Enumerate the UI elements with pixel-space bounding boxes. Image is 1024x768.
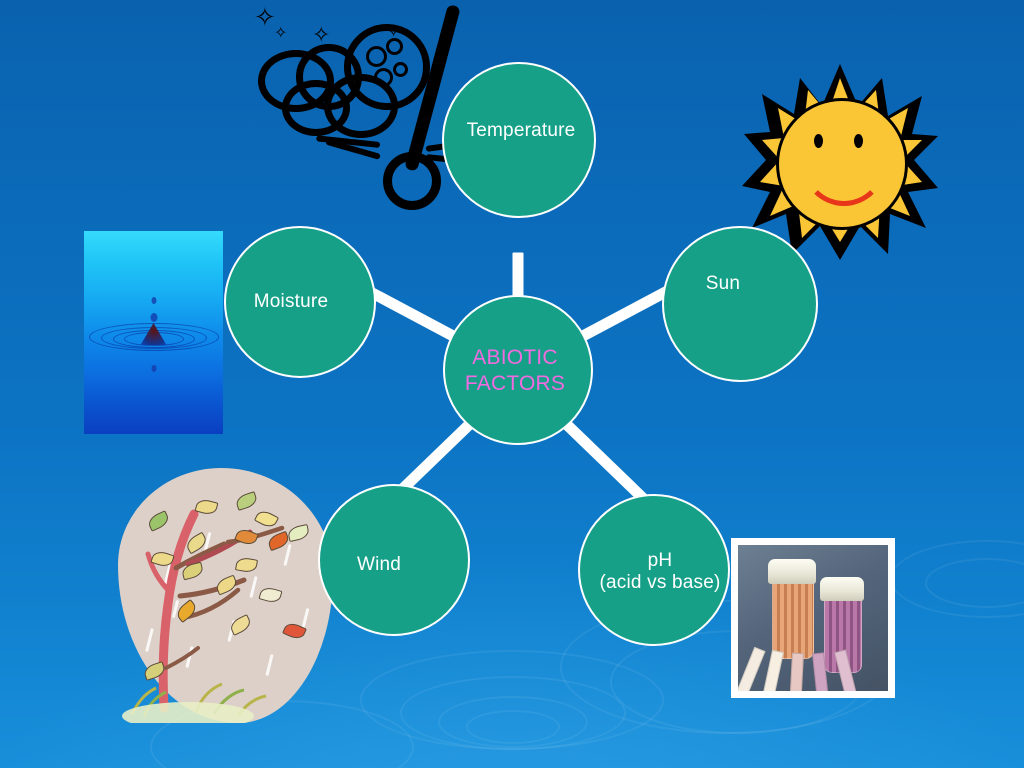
- ph-strip: [789, 653, 804, 691]
- ripple-watermark: [466, 710, 560, 744]
- star-icon: ✧: [312, 24, 330, 46]
- vial-cap: [820, 577, 864, 601]
- ph-strip: [738, 647, 766, 691]
- node-wind[interactable]: Wind: [318, 484, 470, 636]
- vial-cap: [768, 559, 816, 584]
- photo-inner: [738, 545, 888, 691]
- vial-tube: [772, 581, 814, 659]
- tree-icon: [118, 468, 333, 723]
- node-label-moisture: Moisture: [254, 291, 328, 313]
- ripple-watermark: [360, 650, 664, 750]
- ph-test-strips-photo: [731, 538, 895, 698]
- moon-crater: [386, 38, 403, 55]
- sun-eye: [814, 134, 823, 148]
- slide-canvas: ✧ ✧ ✧ ✧: [0, 0, 1024, 768]
- node-label-temperature: Temperature: [467, 120, 576, 142]
- ripple-watermark: [438, 696, 588, 748]
- star-icon: ✧: [274, 26, 287, 42]
- moon-crater: [393, 62, 408, 77]
- ripple-watermark: [400, 676, 626, 750]
- windy-tree-clipart: [118, 468, 333, 723]
- ripple-watermark: [890, 540, 1024, 618]
- node-label-wind: Wind: [357, 554, 401, 576]
- node-moisture[interactable]: Moisture: [224, 226, 376, 378]
- water-drop-photo: [84, 231, 223, 434]
- water-bead: [151, 297, 156, 304]
- ripple-watermark: [925, 558, 1024, 608]
- node-sun[interactable]: Sun: [662, 226, 818, 382]
- node-label-ph: pH (acid vs base): [599, 550, 720, 595]
- node-temperature[interactable]: Temperature: [442, 62, 596, 218]
- weather-clipart: ✧ ✧ ✧ ✧: [262, 2, 462, 202]
- water-bead: [150, 313, 157, 322]
- node-label-sun: Sun: [706, 273, 740, 295]
- cloud-icon: [324, 74, 398, 138]
- moon-crater: [366, 46, 387, 67]
- node-abiotic-factors-center[interactable]: ABIOTIC FACTORS: [443, 295, 593, 445]
- node-label-abiotic-factors: ABIOTIC FACTORS: [465, 345, 565, 396]
- sun-eye: [854, 134, 863, 148]
- node-ph[interactable]: pH (acid vs base): [578, 494, 730, 646]
- water-bead: [151, 365, 156, 372]
- vial-orange: [768, 559, 816, 657]
- star-icon: ✧: [254, 4, 276, 30]
